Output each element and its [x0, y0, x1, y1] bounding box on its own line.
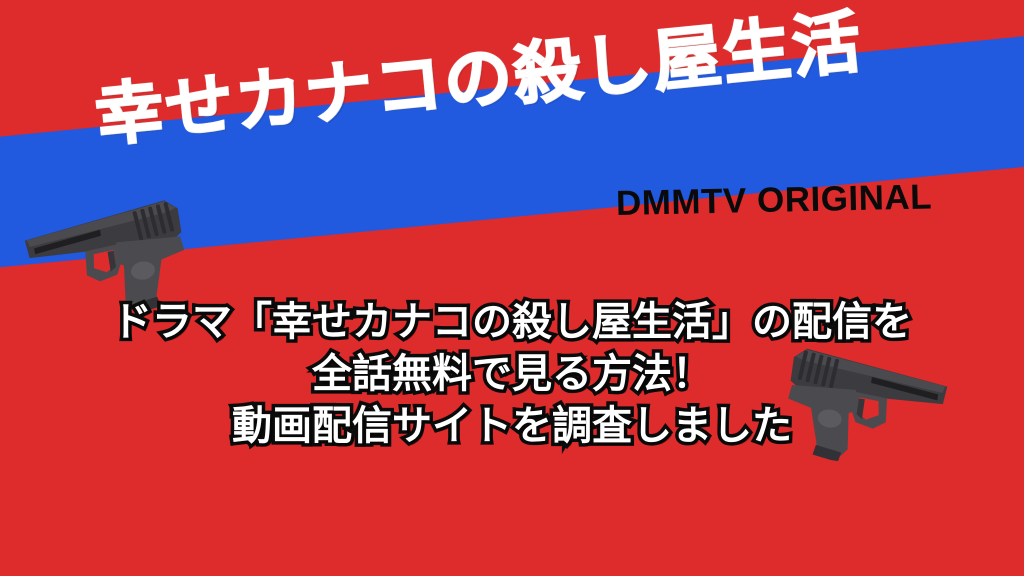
thumbnail-canvas: 幸せカナコの殺し屋生活 DMMTV ORIGINAL ドラマ「幸せカナコの殺し屋… [0, 0, 1024, 576]
brand-tag: DMMTV ORIGINAL [616, 179, 933, 221]
pistol-icon-right [782, 329, 959, 480]
brand-tag-text: DMMTV ORIGINAL [616, 177, 933, 223]
